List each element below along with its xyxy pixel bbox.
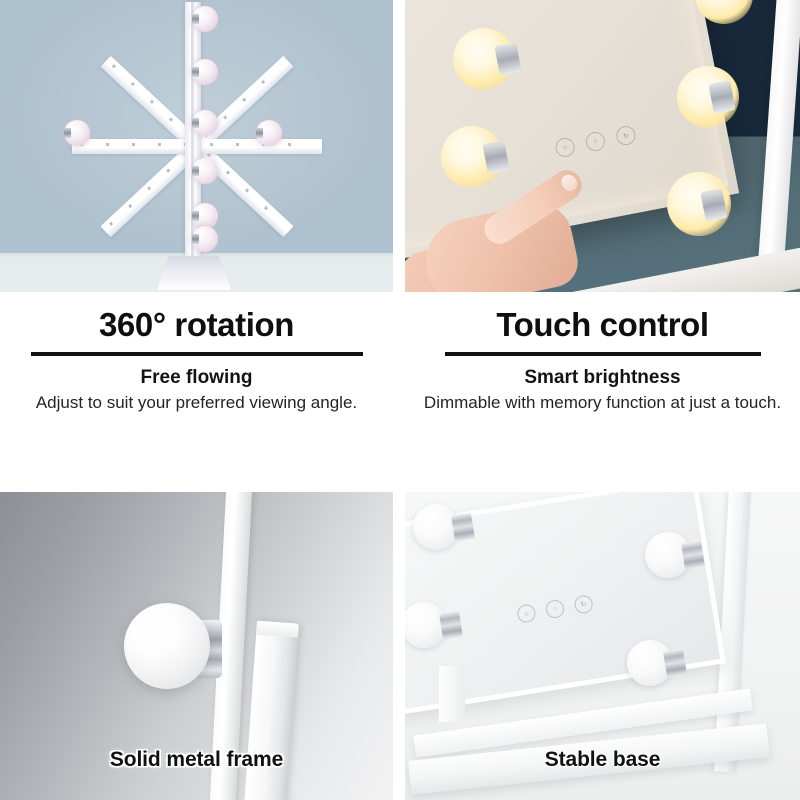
leg-top-cap: [256, 621, 299, 638]
pointing-hand: [425, 138, 615, 292]
rotation-bulb-icon: [192, 6, 218, 32]
feature-grid: ☼ ○ ↻ 360° rotation Free flowing Adjust …: [0, 0, 800, 800]
rotation-bulb-icon: [256, 120, 282, 146]
bulb-socket: [663, 649, 687, 678]
stand-leg: [243, 621, 299, 800]
headline-rule: [445, 352, 761, 356]
feature-subhead: Free flowing: [0, 367, 393, 389]
feature-text-rotation: 360° rotation Free flowing Adjust to sui…: [0, 292, 393, 414]
rotation-bulb-icon: [64, 120, 90, 146]
feature-subhead: Smart brightness: [405, 367, 800, 389]
rotation-bulb-icon: [192, 226, 218, 252]
feature-image-frame: Solid metal frame: [0, 492, 393, 800]
rotation-bulb-icon: [192, 110, 218, 136]
image-caption: Solid metal frame: [0, 748, 393, 772]
headline-rule: [31, 352, 363, 356]
feature-image-touch: ☼ ○ ↻: [405, 0, 800, 292]
touch-key-power[interactable]: ○: [545, 599, 566, 620]
feature-image-rotation: [0, 0, 393, 292]
rotation-bulb-icon: [192, 59, 218, 85]
touch-key-mode[interactable]: ↻: [615, 124, 637, 146]
feature-image-base: ☼ ○ ↻ Stable base: [405, 492, 800, 800]
touch-key-brightness[interactable]: ☼: [516, 603, 537, 624]
rotation-bulb-icon: [192, 158, 218, 184]
light-bulb-icon: [124, 603, 210, 689]
stand-base-plate: [157, 256, 231, 290]
fingernail: [558, 172, 580, 194]
bulb-socket: [439, 611, 463, 640]
feature-headline: Touch control: [405, 308, 800, 341]
feature-text-touch: Touch control Smart brightness Dimmable …: [405, 292, 800, 414]
base-support-post: [439, 666, 465, 722]
feature-body: Dimmable with memory function at just a …: [423, 391, 783, 414]
bulb-socket: [681, 541, 705, 570]
feature-headline: 360° rotation: [0, 308, 393, 341]
feature-body: Adjust to suit your preferred viewing an…: [17, 391, 377, 414]
bulb-socket: [451, 513, 475, 542]
touch-key-mode[interactable]: ↻: [573, 594, 594, 615]
image-caption: Stable base: [405, 748, 800, 772]
